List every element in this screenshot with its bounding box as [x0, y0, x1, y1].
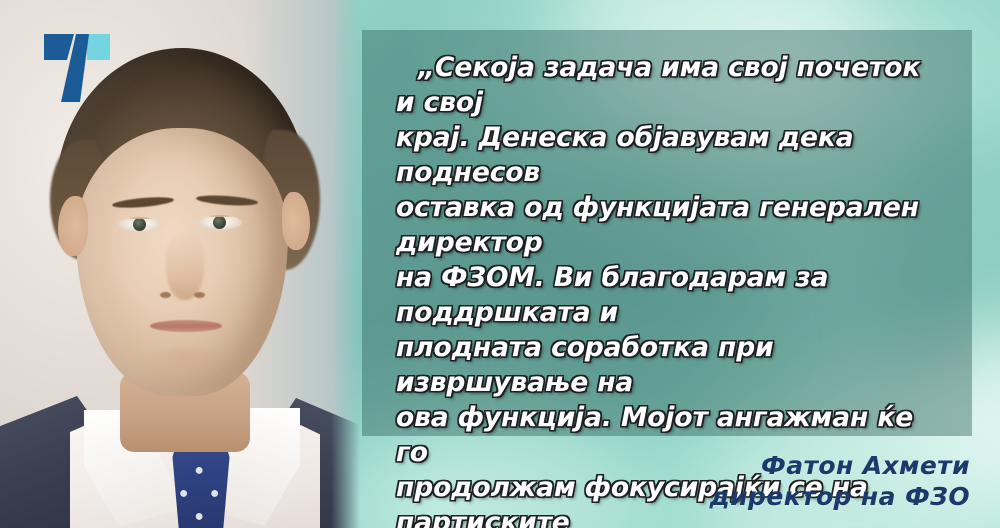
ear-left [58, 196, 88, 256]
eye-left [118, 217, 162, 232]
attribution-block: Фатон Ахмети директор на ФЗО [710, 450, 970, 512]
chin [142, 348, 228, 382]
mouth [150, 320, 222, 332]
nostril-right [194, 292, 205, 298]
telma-logo-icon [40, 26, 118, 104]
pupil-right [213, 216, 226, 229]
nose [166, 232, 204, 300]
quote-card: „Секоја задача има свој почеток и свој к… [0, 0, 1000, 528]
nostril-left [160, 292, 171, 298]
pupil-left [133, 218, 146, 231]
eye-right [198, 215, 242, 230]
